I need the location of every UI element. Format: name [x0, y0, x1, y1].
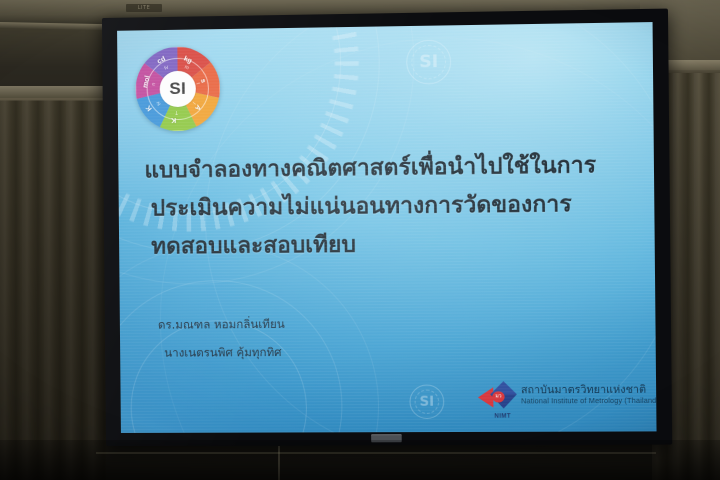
projection-screen-frame: SI SI SI kgmstAIKTKIvmolncdIv แบบจำลองทา… [102, 9, 672, 446]
slide-vignette [117, 22, 656, 433]
screenshot-root: LITE SI SI SI kgms [0, 0, 720, 480]
ceiling-device-label: LITE [126, 4, 162, 12]
wall-seam-line [96, 452, 656, 454]
presentation-slide: SI SI SI kgmstAIKTKIvmolncdIv แบบจำลองทา… [117, 22, 656, 433]
wall-shadow-lower [0, 440, 720, 480]
curtain-left-shading [0, 100, 106, 480]
